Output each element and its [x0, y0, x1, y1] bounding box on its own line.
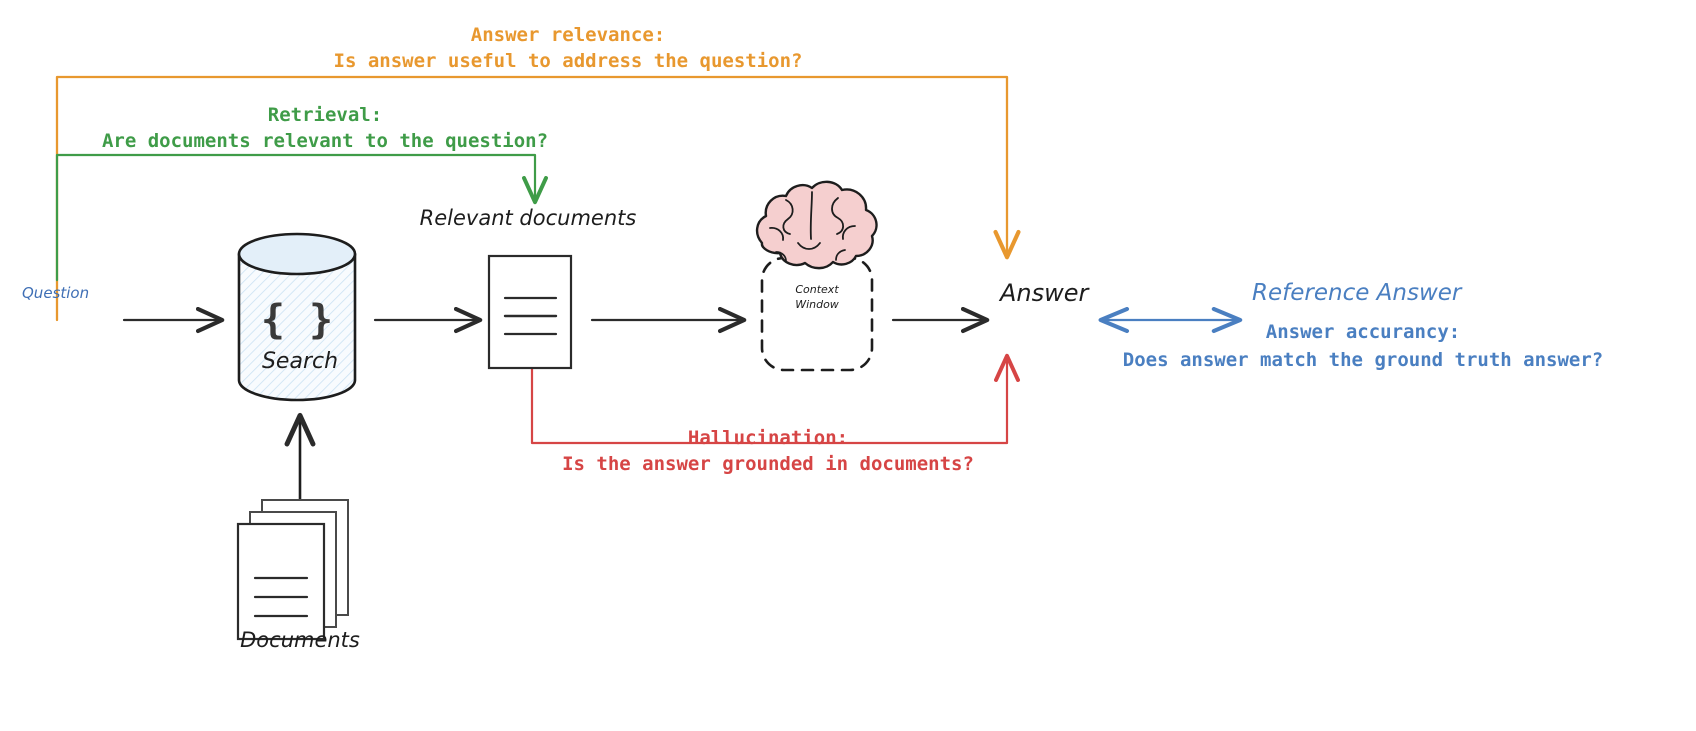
diagram-canvas: { } — [0, 0, 1696, 731]
annotation-answer-relevance: Answer relevance: Is answer useful to ad… — [334, 22, 803, 74]
annotation-answer-accuracy-question: Does answer match the ground truth answe… — [1123, 346, 1603, 374]
annotation-answer-relevance-title: Answer relevance: — [334, 22, 803, 48]
documents-stack-icon — [238, 500, 348, 639]
annotation-hallucination: Hallucination: Is the answer grounded in… — [562, 425, 974, 477]
annotation-hallucination-question: Is the answer grounded in documents? — [562, 451, 974, 477]
annotation-answer-accuracy: Answer accurancy: Does answer match the … — [1123, 318, 1603, 374]
annotation-retrieval-title: Retrieval: — [102, 102, 548, 128]
node-label-reference-answer: Reference Answer — [1252, 280, 1461, 306]
node-label-context-window: Context Window — [795, 282, 839, 312]
node-label-answer: Answer — [1000, 279, 1088, 307]
node-label-question: Question — [22, 284, 89, 302]
node-label-relevant-documents: Relevant documents — [420, 206, 637, 230]
annotation-retrieval: Retrieval: Are documents relevant to the… — [102, 102, 548, 154]
brain-icon — [757, 182, 876, 268]
annotation-hallucination-title: Hallucination: — [562, 425, 974, 451]
node-label-search: Search — [262, 349, 338, 374]
annotation-retrieval-question: Are documents relevant to the question? — [102, 128, 548, 154]
annotation-answer-relevance-question: Is answer useful to address the question… — [334, 48, 803, 74]
node-label-documents: Documents — [240, 628, 360, 652]
context-window-box — [762, 258, 872, 370]
annotation-answer-accuracy-title: Answer accurancy: — [1123, 318, 1603, 346]
relevant-document-icon — [489, 256, 571, 368]
context-window-line-1: Context — [795, 282, 839, 297]
svg-text:{ }: { } — [261, 297, 333, 343]
search-database-icon: { } — [239, 234, 355, 400]
context-window-line-2: Window — [795, 297, 839, 312]
